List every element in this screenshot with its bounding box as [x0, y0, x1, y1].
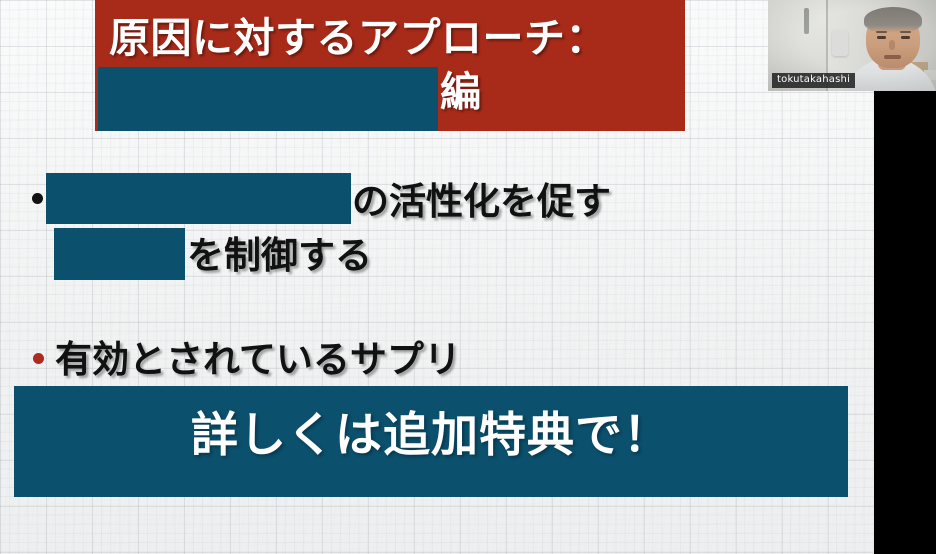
- webcam-tile[interactable]: tokutakahashi: [768, 0, 936, 91]
- redaction-box-bullet-1-line-1: [46, 173, 351, 224]
- slide-title-line-1: 原因に対するアプローチ：: [109, 18, 607, 59]
- webcam-person-eyebrow-left: [876, 31, 887, 33]
- webcam-person-eye-right: [901, 36, 910, 39]
- bullet-1-line-1-text: の活性化を促す: [352, 183, 611, 220]
- webcam-person-mouth: [884, 55, 901, 59]
- cta-banner-text: 詳しくは追加特典で！: [14, 412, 848, 459]
- webcam-cabinet-handle: [804, 8, 809, 34]
- bullet-dot-icon: [32, 193, 43, 204]
- webcam-participant-name-label: tokutakahashi: [772, 73, 855, 89]
- cta-banner: 詳しくは追加特典で！: [14, 386, 848, 497]
- bullet-dot-icon: [33, 353, 44, 364]
- webcam-person-nose: [889, 40, 895, 50]
- slide-title-line-2: 編: [440, 72, 482, 113]
- redaction-box-title: [98, 67, 438, 131]
- webcam-person-hair: [864, 7, 922, 33]
- webcam-person-eyebrow-right: [900, 31, 911, 33]
- screen-share-view: 原因に対するアプローチ： 編 の活性化を促す を制御する 有効とされているサプリ…: [0, 0, 936, 554]
- webcam-shelf-item: [832, 30, 848, 56]
- bullet-1-line-2-text: を制御する: [187, 237, 372, 274]
- bullet-2-line-1-text: 有効とされているサプリ: [55, 341, 461, 378]
- webcam-person-eye-left: [877, 36, 886, 39]
- letterbox-black-bar: [874, 91, 936, 554]
- redaction-box-bullet-1-line-2: [54, 228, 185, 280]
